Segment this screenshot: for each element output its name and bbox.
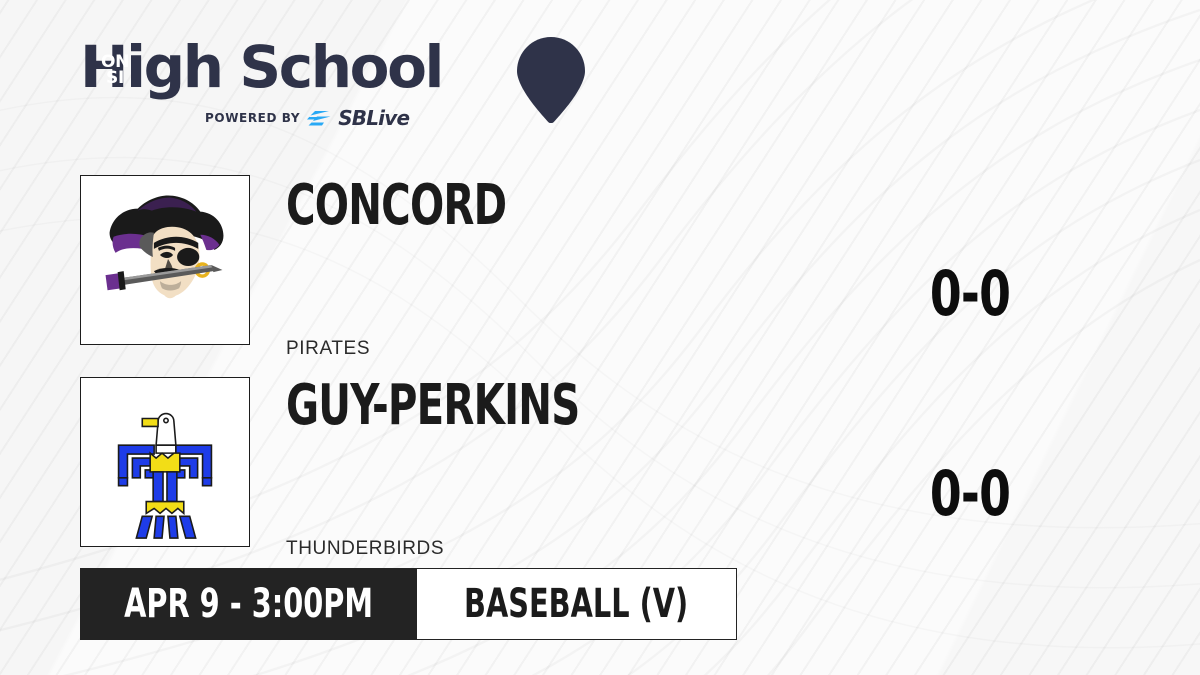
team-name-concord: CONCORD — [286, 178, 506, 234]
pirate-head-logo-icon — [81, 176, 249, 344]
sblive-wordmark: SBLive — [338, 106, 409, 130]
team-record-guy-perkins: 0-0 — [880, 463, 1060, 525]
powered-by-label: POWERED BY — [205, 111, 300, 125]
game-info-bar: APR 9 - 3:00PM BASEBALL (V) — [80, 568, 737, 640]
sblive-s-mark-icon — [307, 110, 331, 127]
game-sport-label: BASEBALL (V) — [464, 584, 688, 624]
game-datetime-panel: APR 9 - 3:00PM — [80, 568, 417, 640]
team-name-guy-perkins: GUY-PERKINS — [286, 378, 579, 434]
powered-by-lockup: POWERED BY SBLive — [205, 108, 409, 128]
team-logo-box-guy-perkins — [80, 377, 250, 547]
team-logo-box-concord — [80, 175, 250, 345]
team-mascot-thunderbirds: THUNDERBIRDS — [286, 538, 444, 560]
on-si-pin-label: ON SI — [80, 55, 150, 86]
team-record-concord: 0-0 — [880, 263, 1060, 325]
game-sport-panel: BASEBALL (V) — [417, 568, 737, 640]
thunderbird-logo-icon — [81, 378, 249, 546]
on-si-pin-icon — [516, 37, 586, 123]
brand-lockup: High School ON SI POWERED BY SBLive — [80, 36, 520, 136]
game-datetime-label: APR 9 - 3:00PM — [124, 584, 373, 624]
team-mascot-pirates: PIRATES — [286, 338, 370, 360]
matchup-graphic: High School ON SI POWERED BY SBLive — [0, 0, 1200, 675]
